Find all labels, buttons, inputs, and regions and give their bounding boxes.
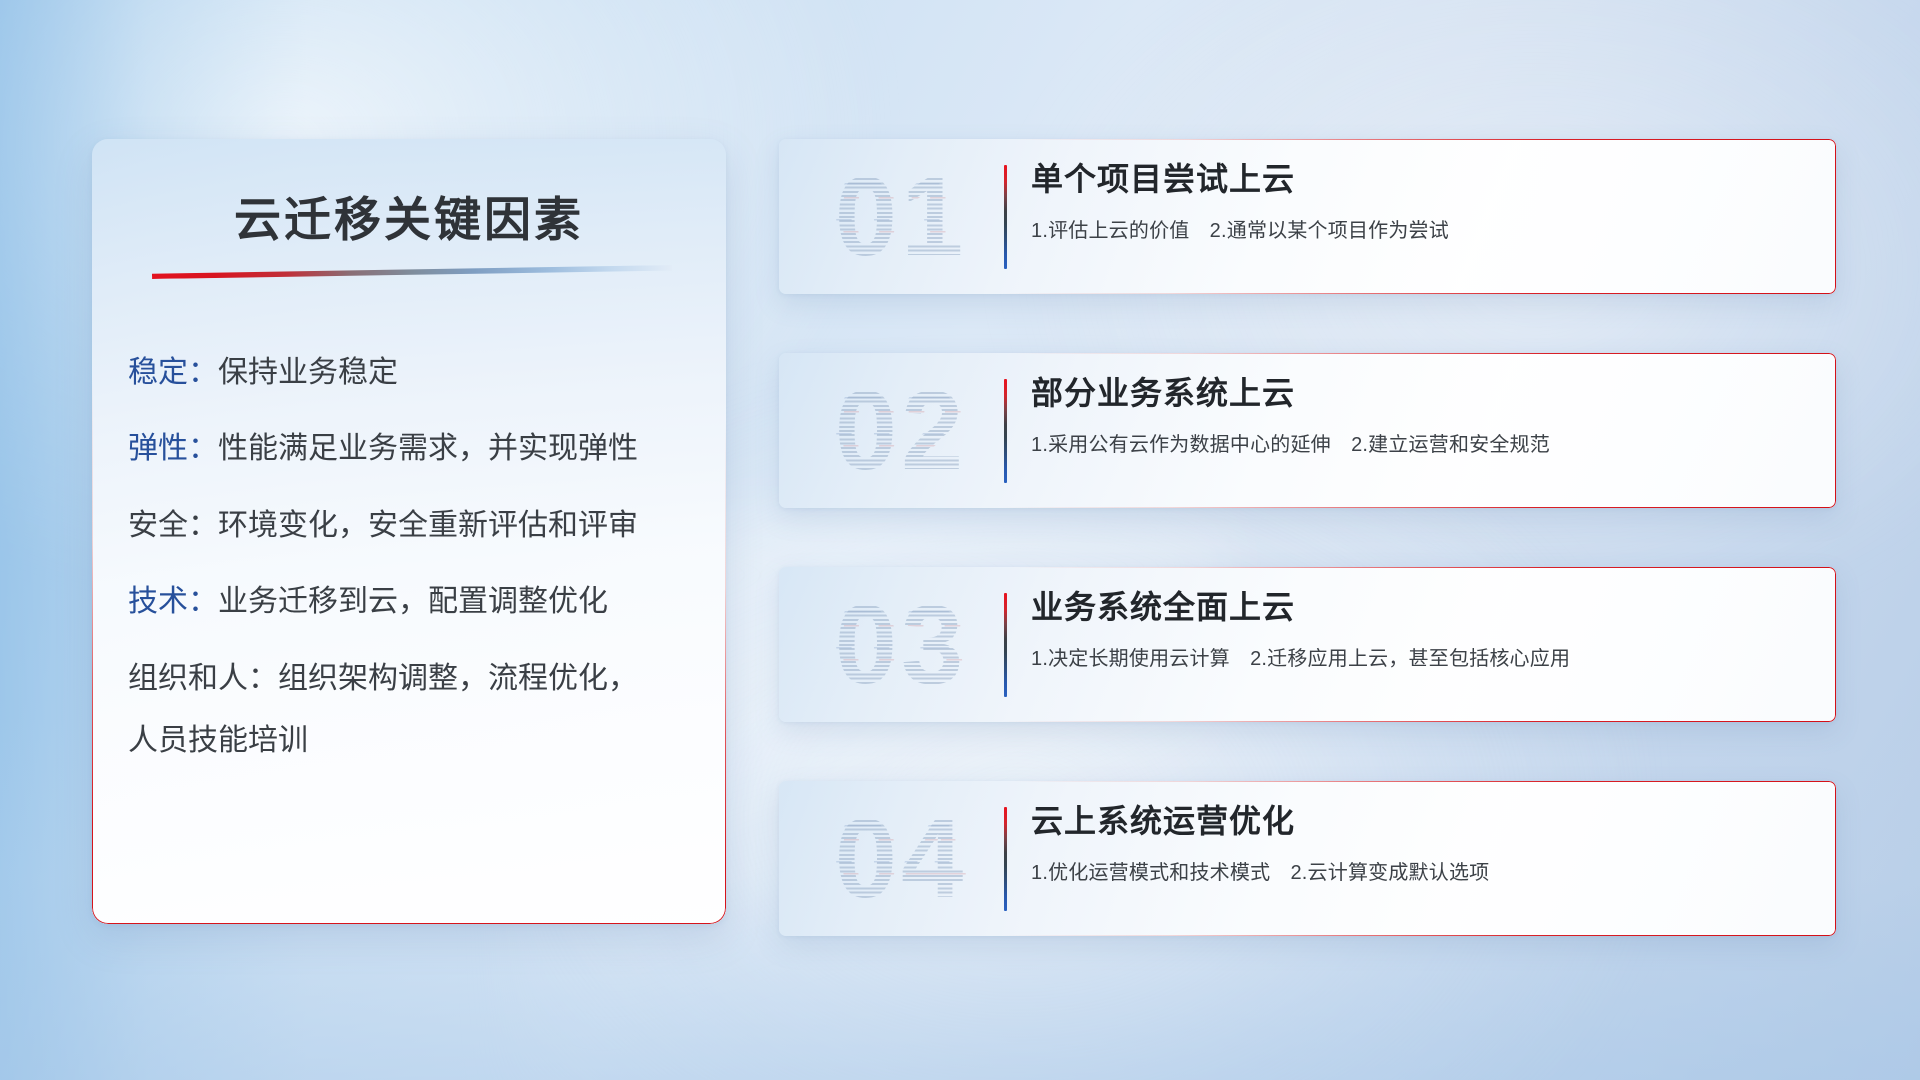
step-number: 02 — [801, 367, 1001, 495]
step-title: 云上系统运营优化 — [1031, 801, 1812, 841]
list-item: 组织和人：组织架构调整，流程优化， — [128, 663, 698, 695]
title-divider — [152, 265, 672, 279]
list-item: 技术：业务迁移到云，配置调整优化 — [128, 586, 698, 618]
title-divider-bar — [152, 265, 672, 279]
step-accent-bar — [1004, 807, 1007, 911]
key-factors-card: 云迁移关键因素 稳定：保持业务稳定 弹性：性能满足业务需求，并实现弹性 安全：环… — [92, 139, 726, 924]
step-card-03[interactable]: 03 03 03 业务系统全面上云 1.决定长期使用云计算 2.迁移应用上云，甚… — [779, 567, 1836, 722]
step-subtitle: 1.优化运营模式和技术模式 2.云计算变成默认选项 — [1031, 860, 1812, 886]
step-card-02[interactable]: 02 02 02 部分业务系统上云 1.采用公有云作为数据中心的延伸 2.建立运… — [779, 353, 1836, 508]
step-number: 04 — [801, 795, 1001, 923]
list-item: 弹性：性能满足业务需求，并实现弹性 — [128, 433, 698, 465]
list-item-key: 组织和人： — [128, 662, 278, 695]
step-title: 部分业务系统上云 — [1031, 373, 1812, 413]
list-item-value: 业务迁移到云，配置调整优化 — [218, 585, 608, 618]
step-subtitle: 1.采用公有云作为数据中心的延伸 2.建立运营和安全规范 — [1031, 432, 1812, 458]
list-item-value: 性能满足业务需求，并实现弹性 — [218, 432, 638, 465]
step-number: 01 — [801, 153, 1001, 281]
step-text-block: 部分业务系统上云 1.采用公有云作为数据中心的延伸 2.建立运营和安全规范 — [1031, 373, 1812, 458]
step-text-block: 云上系统运营优化 1.优化运营模式和技术模式 2.云计算变成默认选项 — [1031, 801, 1812, 886]
step-card-01[interactable]: 01 01 01 单个项目尝试上云 1.评估上云的价值 2.通常以某个项目作为尝… — [779, 139, 1836, 294]
list-item-value: 保持业务稳定 — [218, 356, 398, 389]
step-card-04[interactable]: 04 04 04 云上系统运营优化 1.优化运营模式和技术模式 2.云计算变成默… — [779, 781, 1836, 936]
list-item-key: 稳定： — [128, 356, 218, 389]
step-accent-bar — [1004, 379, 1007, 483]
list-item: 稳定：保持业务稳定 — [128, 357, 698, 389]
step-subtitle: 1.决定长期使用云计算 2.迁移应用上云，甚至包括核心应用 — [1031, 646, 1812, 672]
list-item-continuation: 人员技能培训 — [128, 725, 698, 757]
page-title: 云迁移关键因素 — [92, 181, 726, 250]
step-accent-bar — [1004, 165, 1007, 269]
list-item-key: 弹性： — [128, 432, 218, 465]
slide-content: 云迁移关键因素 稳定：保持业务稳定 弹性：性能满足业务需求，并实现弹性 安全：环… — [0, 0, 1920, 1080]
migration-steps-list: 01 01 01 单个项目尝试上云 1.评估上云的价值 2.通常以某个项目作为尝… — [779, 139, 1836, 936]
key-factors-list: 稳定：保持业务稳定 弹性：性能满足业务需求，并实现弹性 安全：环境变化，安全重新… — [128, 357, 698, 757]
list-item-key: 安全： — [128, 509, 218, 542]
step-title: 业务系统全面上云 — [1031, 587, 1812, 627]
step-accent-bar — [1004, 593, 1007, 697]
step-number: 03 — [801, 581, 1001, 709]
step-subtitle: 1.评估上云的价值 2.通常以某个项目作为尝试 — [1031, 218, 1812, 244]
step-title: 单个项目尝试上云 — [1031, 159, 1812, 199]
step-text-block: 业务系统全面上云 1.决定长期使用云计算 2.迁移应用上云，甚至包括核心应用 — [1031, 587, 1812, 672]
list-item-value: 环境变化，安全重新评估和评审 — [218, 509, 638, 542]
list-item: 安全：环境变化，安全重新评估和评审 — [128, 510, 698, 542]
list-item-value: 人员技能培训 — [128, 724, 308, 757]
list-item-value: 组织架构调整，流程优化， — [278, 662, 638, 695]
step-text-block: 单个项目尝试上云 1.评估上云的价值 2.通常以某个项目作为尝试 — [1031, 159, 1812, 244]
list-item-key: 技术： — [128, 585, 218, 618]
